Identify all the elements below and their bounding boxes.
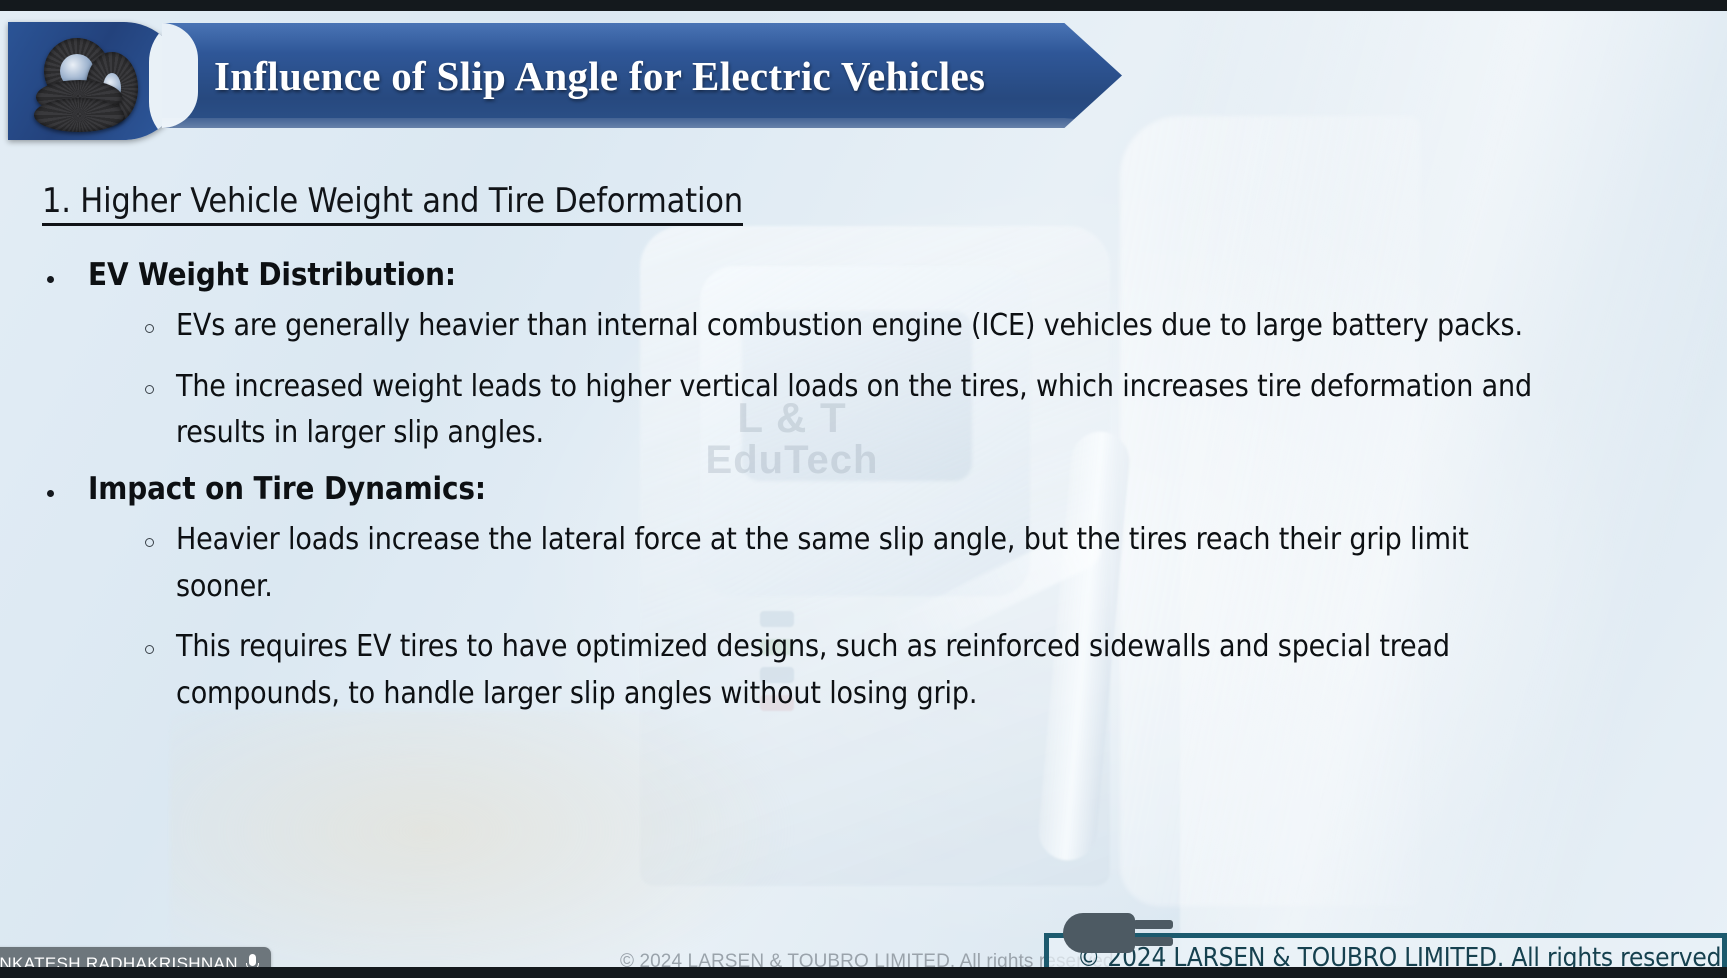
bullet-level2: Heavier loads increase the lateral force… — [42, 517, 1642, 610]
bullet-dot-icon — [47, 276, 54, 283]
tire-icon — [34, 98, 124, 132]
slide-header: Influence of Slip Angle for Electric Veh… — [0, 11, 1727, 143]
bullet-level2-text: EVs are generally heavier than internal … — [176, 303, 1536, 350]
bullet-level2: This requires EV tires to have optimized… — [42, 624, 1642, 717]
bullet-circle-icon — [145, 538, 154, 547]
letterbox-top — [0, 0, 1727, 11]
bullet-dot-icon — [47, 490, 54, 497]
bullet-level2: EVs are generally heavier than internal … — [42, 303, 1642, 350]
plug-body — [1063, 913, 1135, 953]
power-plug-icon — [1063, 911, 1179, 955]
logo-badge — [8, 22, 183, 140]
bullet-level2: The increased weight leads to higher ver… — [42, 364, 1642, 457]
bullet-level1-label: EV Weight Distribution: — [88, 257, 456, 293]
copyright-notice: © 2024 LARSEN & TOUBRO LIMITED. All righ… — [620, 951, 1114, 967]
bullet-level2-text: Heavier loads increase the lateral force… — [176, 517, 1536, 610]
plug-pin — [1133, 920, 1173, 929]
bg-warm-glow — [170, 711, 810, 967]
bullet-level2-text: This requires EV tires to have optimized… — [176, 624, 1536, 717]
bullet-circle-icon — [145, 385, 154, 394]
presenter-name-badge: VENKATESH RADHAKRISHNAN — [0, 947, 271, 967]
screen-capture: L & T EduTech Influence of Slip Angle fo… — [0, 0, 1727, 978]
microphone-icon — [246, 954, 259, 967]
presentation-slide: L & T EduTech Influence of Slip Angle fo… — [0, 11, 1727, 967]
section-heading: 1. Higher Vehicle Weight and Tire Deform… — [42, 181, 743, 226]
bullet-level1: Impact on Tire Dynamics: — [42, 471, 1642, 507]
plug-pin — [1133, 937, 1173, 946]
tire-stack-icon — [30, 38, 150, 130]
bullet-circle-icon — [145, 324, 154, 333]
bullet-level1-label: Impact on Tire Dynamics: — [88, 471, 486, 507]
bullet-circle-icon — [145, 645, 154, 654]
bullet-level2-text: The increased weight leads to higher ver… — [176, 364, 1536, 457]
presenter-name: VENKATESH RADHAKRISHNAN — [0, 954, 238, 967]
page-title: Influence of Slip Angle for Electric Veh… — [162, 23, 1122, 128]
title-banner: Influence of Slip Angle for Electric Veh… — [162, 23, 1122, 128]
letterbox-bottom — [0, 967, 1727, 978]
slide-content: 1. Higher Vehicle Weight and Tire Deform… — [42, 181, 1642, 731]
bullet-level1: EV Weight Distribution: — [42, 257, 1642, 293]
